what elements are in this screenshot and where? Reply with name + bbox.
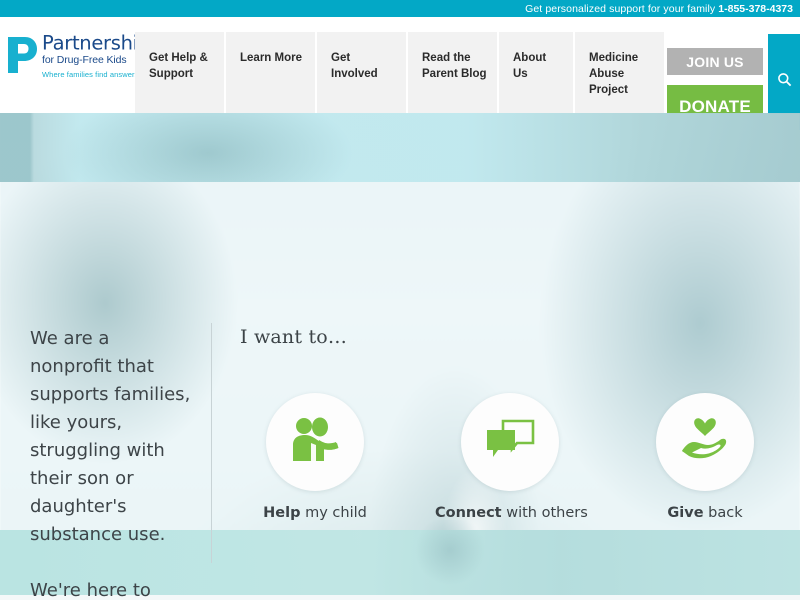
action-cards: Help my child Connect with others bbox=[240, 393, 780, 521]
nav-item-read-the-parent-blog[interactable]: Read the Parent Blog bbox=[408, 32, 497, 113]
hero-top-band bbox=[0, 113, 800, 182]
vertical-divider bbox=[211, 323, 212, 563]
nav-item-get-help-support[interactable]: Get Help & Support bbox=[135, 32, 224, 113]
site-header: Partnership™ for Drug-Free Kids Where fa… bbox=[0, 17, 800, 113]
card-label: Connect with others bbox=[435, 505, 585, 521]
card-label-rest: my child bbox=[300, 505, 366, 521]
utility-bar: Get personalized support for your family… bbox=[0, 0, 800, 17]
speech-bubbles-icon bbox=[484, 417, 536, 468]
section-heading: I want to… bbox=[240, 326, 347, 348]
card-label-strong: Help bbox=[263, 505, 300, 521]
nav-item-medicine-abuse-project[interactable]: Medicine Abuse Project bbox=[575, 32, 664, 113]
card-icon-circle bbox=[266, 393, 364, 491]
card-label-strong: Connect bbox=[435, 505, 502, 521]
card-icon-circle bbox=[461, 393, 559, 491]
nav-item-about-us[interactable]: About Us bbox=[499, 32, 573, 113]
card-label-rest: with others bbox=[502, 505, 588, 521]
logo-name-text: Partnership bbox=[42, 32, 150, 55]
hand-heart-icon bbox=[679, 417, 731, 468]
card-label-strong: Give bbox=[667, 505, 703, 521]
partnership-p-logomark bbox=[6, 35, 38, 75]
join-us-button[interactable]: JOIN US bbox=[667, 48, 763, 75]
page-root: Get personalized support for your family… bbox=[0, 0, 800, 600]
intro-paragraph-2: We're here to help. bbox=[30, 577, 195, 600]
card-label: Give back bbox=[630, 505, 780, 521]
nav-item-get-involved[interactable]: Get Involved bbox=[317, 32, 406, 113]
card-label-rest: back bbox=[704, 505, 743, 521]
intro-text-block: We are a nonprofit that supports familie… bbox=[30, 325, 195, 600]
support-text: Get personalized support for your family bbox=[525, 3, 715, 15]
intro-paragraph-1: We are a nonprofit that supports familie… bbox=[30, 325, 195, 549]
card-icon-circle bbox=[656, 393, 754, 491]
site-logo[interactable]: Partnership™ for Drug-Free Kids Where fa… bbox=[6, 30, 134, 86]
nav-item-learn-more[interactable]: Learn More bbox=[226, 32, 315, 113]
hero-section: We are a nonprofit that supports familie… bbox=[0, 113, 800, 600]
search-icon bbox=[777, 72, 792, 92]
card-label: Help my child bbox=[240, 505, 390, 521]
card-connect-with-others[interactable]: Connect with others bbox=[435, 393, 585, 521]
people-embrace-icon bbox=[289, 417, 341, 468]
main-navigation: Get Help & Support Learn More Get Involv… bbox=[135, 32, 666, 113]
card-help-my-child[interactable]: Help my child bbox=[240, 393, 390, 521]
support-phone-link[interactable]: 1-855-378-4373 bbox=[718, 3, 793, 15]
card-give-back[interactable]: Give back bbox=[630, 393, 780, 521]
